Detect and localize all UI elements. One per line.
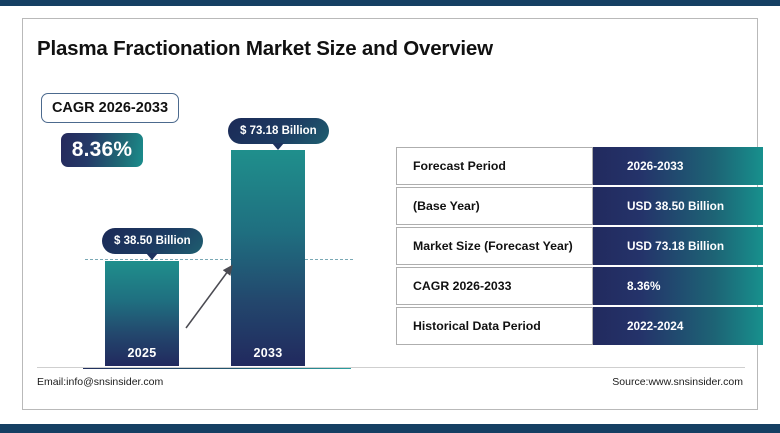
bar-chart: $ 38.50 Billion $ 73.18 Billion 2025 203… bbox=[23, 19, 373, 411]
table-cell-value: 8.36% bbox=[593, 267, 763, 305]
table-cell-label: Historical Data Period bbox=[396, 307, 593, 345]
top-accent-strip bbox=[0, 0, 780, 6]
data-label-2025: $ 38.50 Billion bbox=[102, 228, 203, 254]
footer-email: Email:info@snsinsider.com bbox=[37, 376, 163, 388]
summary-table: Forecast Period 2026-2033 (Base Year) US… bbox=[396, 147, 763, 347]
content-frame: Plasma Fractionation Market Size and Ove… bbox=[22, 18, 758, 410]
table-cell-label: Forecast Period bbox=[396, 147, 593, 185]
table-cell-value: USD 38.50 Billion bbox=[593, 187, 763, 225]
bottom-accent-strip bbox=[0, 424, 780, 433]
table-cell-value: 2026-2033 bbox=[593, 147, 763, 185]
bar-year-label-2025: 2025 bbox=[105, 346, 179, 360]
trend-arrow-icon bbox=[183, 259, 239, 331]
table-row: (Base Year) USD 38.50 Billion bbox=[396, 187, 763, 225]
infographic-page: Plasma Fractionation Market Size and Ove… bbox=[0, 0, 780, 433]
table-cell-value: USD 73.18 Billion bbox=[593, 227, 763, 265]
table-row: CAGR 2026-2033 8.36% bbox=[396, 267, 763, 305]
table-row: Historical Data Period 2022-2024 bbox=[396, 307, 763, 345]
table-cell-label: CAGR 2026-2033 bbox=[396, 267, 593, 305]
table-cell-label: (Base Year) bbox=[396, 187, 593, 225]
bar-2025: 2025 bbox=[105, 261, 179, 366]
data-label-2033: $ 73.18 Billion bbox=[228, 118, 329, 144]
table-cell-value: 2022-2024 bbox=[593, 307, 763, 345]
bar-year-label-2033: 2033 bbox=[231, 346, 305, 360]
table-cell-label: Market Size (Forecast Year) bbox=[396, 227, 593, 265]
bar-2033: 2033 bbox=[231, 150, 305, 366]
table-row: Forecast Period 2026-2033 bbox=[396, 147, 763, 185]
footer-source: Source:www.snsinsider.com bbox=[612, 376, 743, 388]
table-row: Market Size (Forecast Year) USD 73.18 Bi… bbox=[396, 227, 763, 265]
footer-divider bbox=[37, 367, 745, 368]
